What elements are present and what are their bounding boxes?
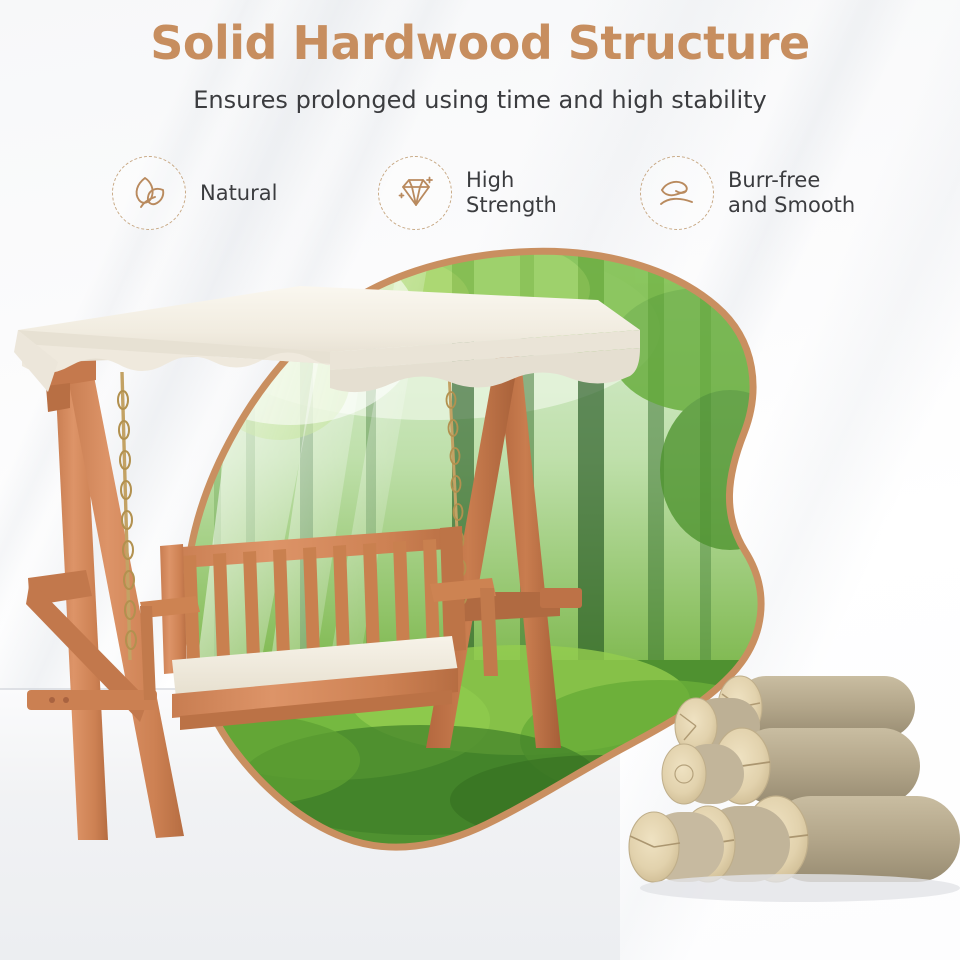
page-title: Solid Hardwood Structure (0, 16, 960, 70)
product-scene (0, 0, 960, 960)
feature-badge-natural: Natural (112, 156, 277, 230)
feature-label: High Strength (466, 168, 557, 218)
badge-ring (378, 156, 452, 230)
feature-label: Natural (200, 181, 277, 206)
log (714, 728, 920, 804)
log (629, 812, 724, 882)
smooth-hand-icon (655, 171, 699, 215)
feature-badge-burr-free: Burr-free and Smooth (640, 156, 855, 230)
swing-frame-left (26, 352, 184, 840)
product-marketing-image: Solid Hardwood Structure Ensures prolong… (0, 0, 960, 960)
leaf-icon (128, 172, 170, 214)
feature-badge-high-strength: High Strength (378, 156, 557, 230)
log (662, 744, 744, 804)
badge-ring (640, 156, 714, 230)
diamond-icon (393, 171, 437, 215)
feature-label: Burr-free and Smooth (728, 168, 855, 218)
log-pile (629, 676, 960, 902)
page-subtitle: Ensures prolonged using time and high st… (0, 86, 960, 114)
feature-badge-row: Natural High Strength (0, 156, 960, 236)
badge-ring (112, 156, 186, 230)
